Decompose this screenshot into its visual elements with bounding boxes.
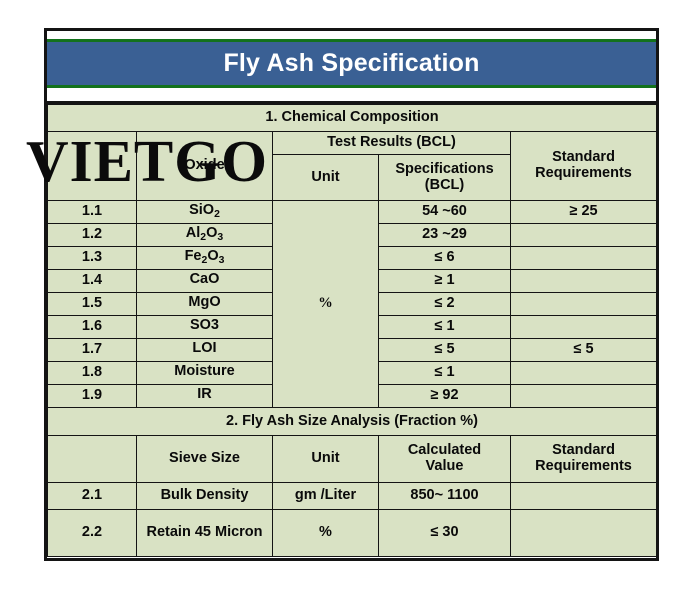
oxide-tail: O: [206, 225, 217, 241]
header-test-results-group: Test Results (BCL): [273, 132, 511, 155]
row-number: 1.8: [48, 362, 137, 385]
header-sieve-size: Sieve Size: [137, 436, 273, 483]
oxide-subscript-2: 3: [219, 255, 225, 266]
row-oxide: SiO2: [137, 201, 273, 224]
oxide-tail: O: [207, 248, 218, 264]
row-oxide: CaO: [137, 270, 273, 293]
row-unit: gm /Liter: [273, 483, 379, 510]
header-oxide: Oxide: [137, 132, 273, 201]
row-oxide: IR: [137, 385, 273, 408]
row-number: 1.4: [48, 270, 137, 293]
row-specification: ≤ 1: [379, 316, 511, 339]
oxide-base: IR: [197, 386, 212, 402]
section1-banner-row: 1. Chemical Composition: [48, 105, 657, 132]
row-number: 1.2: [48, 224, 137, 247]
row-number: 1.5: [48, 293, 137, 316]
row-standard: [511, 224, 657, 247]
oxide-base: Fe: [185, 248, 202, 264]
section2-banner: 2. Fly Ash Size Analysis (Fraction %): [48, 408, 657, 436]
section2-header-row: Sieve Size Unit Calculated Value Standar…: [48, 436, 657, 483]
section1-header-row-1: Oxide Test Results (BCL) Standard Requir…: [48, 132, 657, 155]
unit-merged-percent: %: [273, 201, 379, 408]
oxide-subscript: 2: [214, 209, 220, 220]
header-specifications: Specifications (BCL): [379, 155, 511, 201]
row-standard: [511, 247, 657, 270]
oxide-base: LOI: [192, 340, 216, 356]
table-row: 2.2 Retain 45 Micron % ≤ 30: [48, 510, 657, 557]
row-specification: 54 ~60: [379, 201, 511, 224]
title-spacer-below: [47, 88, 656, 104]
row-standard: [511, 362, 657, 385]
row-oxide: Moisture: [137, 362, 273, 385]
row-number: 1.6: [48, 316, 137, 339]
row-oxide: Fe2O3: [137, 247, 273, 270]
oxide-subscript-2: 3: [217, 232, 223, 243]
oxide-base: Al: [186, 225, 201, 241]
header-standard-requirements-s2: Standard Requirements: [511, 436, 657, 483]
header-standard-line1-s2: Standard: [513, 443, 654, 459]
row-standard: [511, 270, 657, 293]
table-row: 2.1 Bulk Density gm /Liter 850~ 1100: [48, 483, 657, 510]
header-calculated-value: Calculated Value: [379, 436, 511, 483]
header-calculated-line1: Calculated: [381, 443, 508, 459]
specification-sheet: Fly Ash Specification 1. Chemical Compos…: [0, 0, 700, 608]
row-unit: %: [273, 510, 379, 557]
row-standard: ≤ 5: [511, 339, 657, 362]
row-sieve-size: Bulk Density: [137, 483, 273, 510]
row-specification: ≤ 6: [379, 247, 511, 270]
row-oxide: MgO: [137, 293, 273, 316]
row-sieve-size: Retain 45 Micron: [137, 510, 273, 557]
header-specifications-line1: Specifications: [381, 162, 508, 178]
oxide-base: MgO: [188, 294, 220, 310]
header-standard-line1: Standard: [513, 150, 654, 166]
page-title: Fly Ash Specification: [223, 49, 479, 78]
row-number: 1.9: [48, 385, 137, 408]
row-number: 1.1: [48, 201, 137, 224]
row-number: 2.2: [48, 510, 137, 557]
row-specification: 23 ~29: [379, 224, 511, 247]
row-standard: ≥ 25: [511, 201, 657, 224]
header-standard-line2-s2: Requirements: [513, 459, 654, 475]
row-oxide: LOI: [137, 339, 273, 362]
row-number: 1.7: [48, 339, 137, 362]
header-standard-line2: Requirements: [513, 166, 654, 182]
row-number: 2.1: [48, 483, 137, 510]
header-no-column: [48, 132, 137, 201]
title-spacer-above: [47, 31, 656, 39]
header-unit: Unit: [273, 155, 379, 201]
document-title-bar: Fly Ash Specification: [47, 39, 656, 88]
oxide-base: Moisture: [174, 363, 234, 379]
header-standard-requirements: Standard Requirements: [511, 132, 657, 201]
row-calculated-value: ≤ 30: [379, 510, 511, 557]
row-specification: ≤ 1: [379, 362, 511, 385]
row-standard: [511, 385, 657, 408]
header-unit-s2: Unit: [273, 436, 379, 483]
oxide-base: SiO: [189, 202, 214, 218]
row-oxide: SO3: [137, 316, 273, 339]
oxide-base: SO3: [190, 317, 219, 333]
header-specifications-line2: (BCL): [381, 178, 508, 194]
row-oxide: Al2O3: [137, 224, 273, 247]
section2-banner-row: 2. Fly Ash Size Analysis (Fraction %): [48, 408, 657, 436]
row-specification: ≤ 2: [379, 293, 511, 316]
row-standard: [511, 483, 657, 510]
table-row: 1.1 SiO2 % 54 ~60 ≥ 25: [48, 201, 657, 224]
row-specification: ≥ 92: [379, 385, 511, 408]
specification-table-frame: Fly Ash Specification 1. Chemical Compos…: [44, 28, 659, 561]
row-specification: ≤ 5: [379, 339, 511, 362]
row-number: 1.3: [48, 247, 137, 270]
row-calculated-value: 850~ 1100: [379, 483, 511, 510]
row-standard: [511, 510, 657, 557]
row-standard: [511, 293, 657, 316]
header-no-column-s2: [48, 436, 137, 483]
header-calculated-line2: Value: [381, 459, 508, 475]
row-standard: [511, 316, 657, 339]
chemical-composition-table: 1. Chemical Composition Oxide Test Resul…: [47, 104, 657, 557]
row-specification: ≥ 1: [379, 270, 511, 293]
oxide-base: CaO: [190, 271, 220, 287]
section1-banner: 1. Chemical Composition: [48, 105, 657, 132]
